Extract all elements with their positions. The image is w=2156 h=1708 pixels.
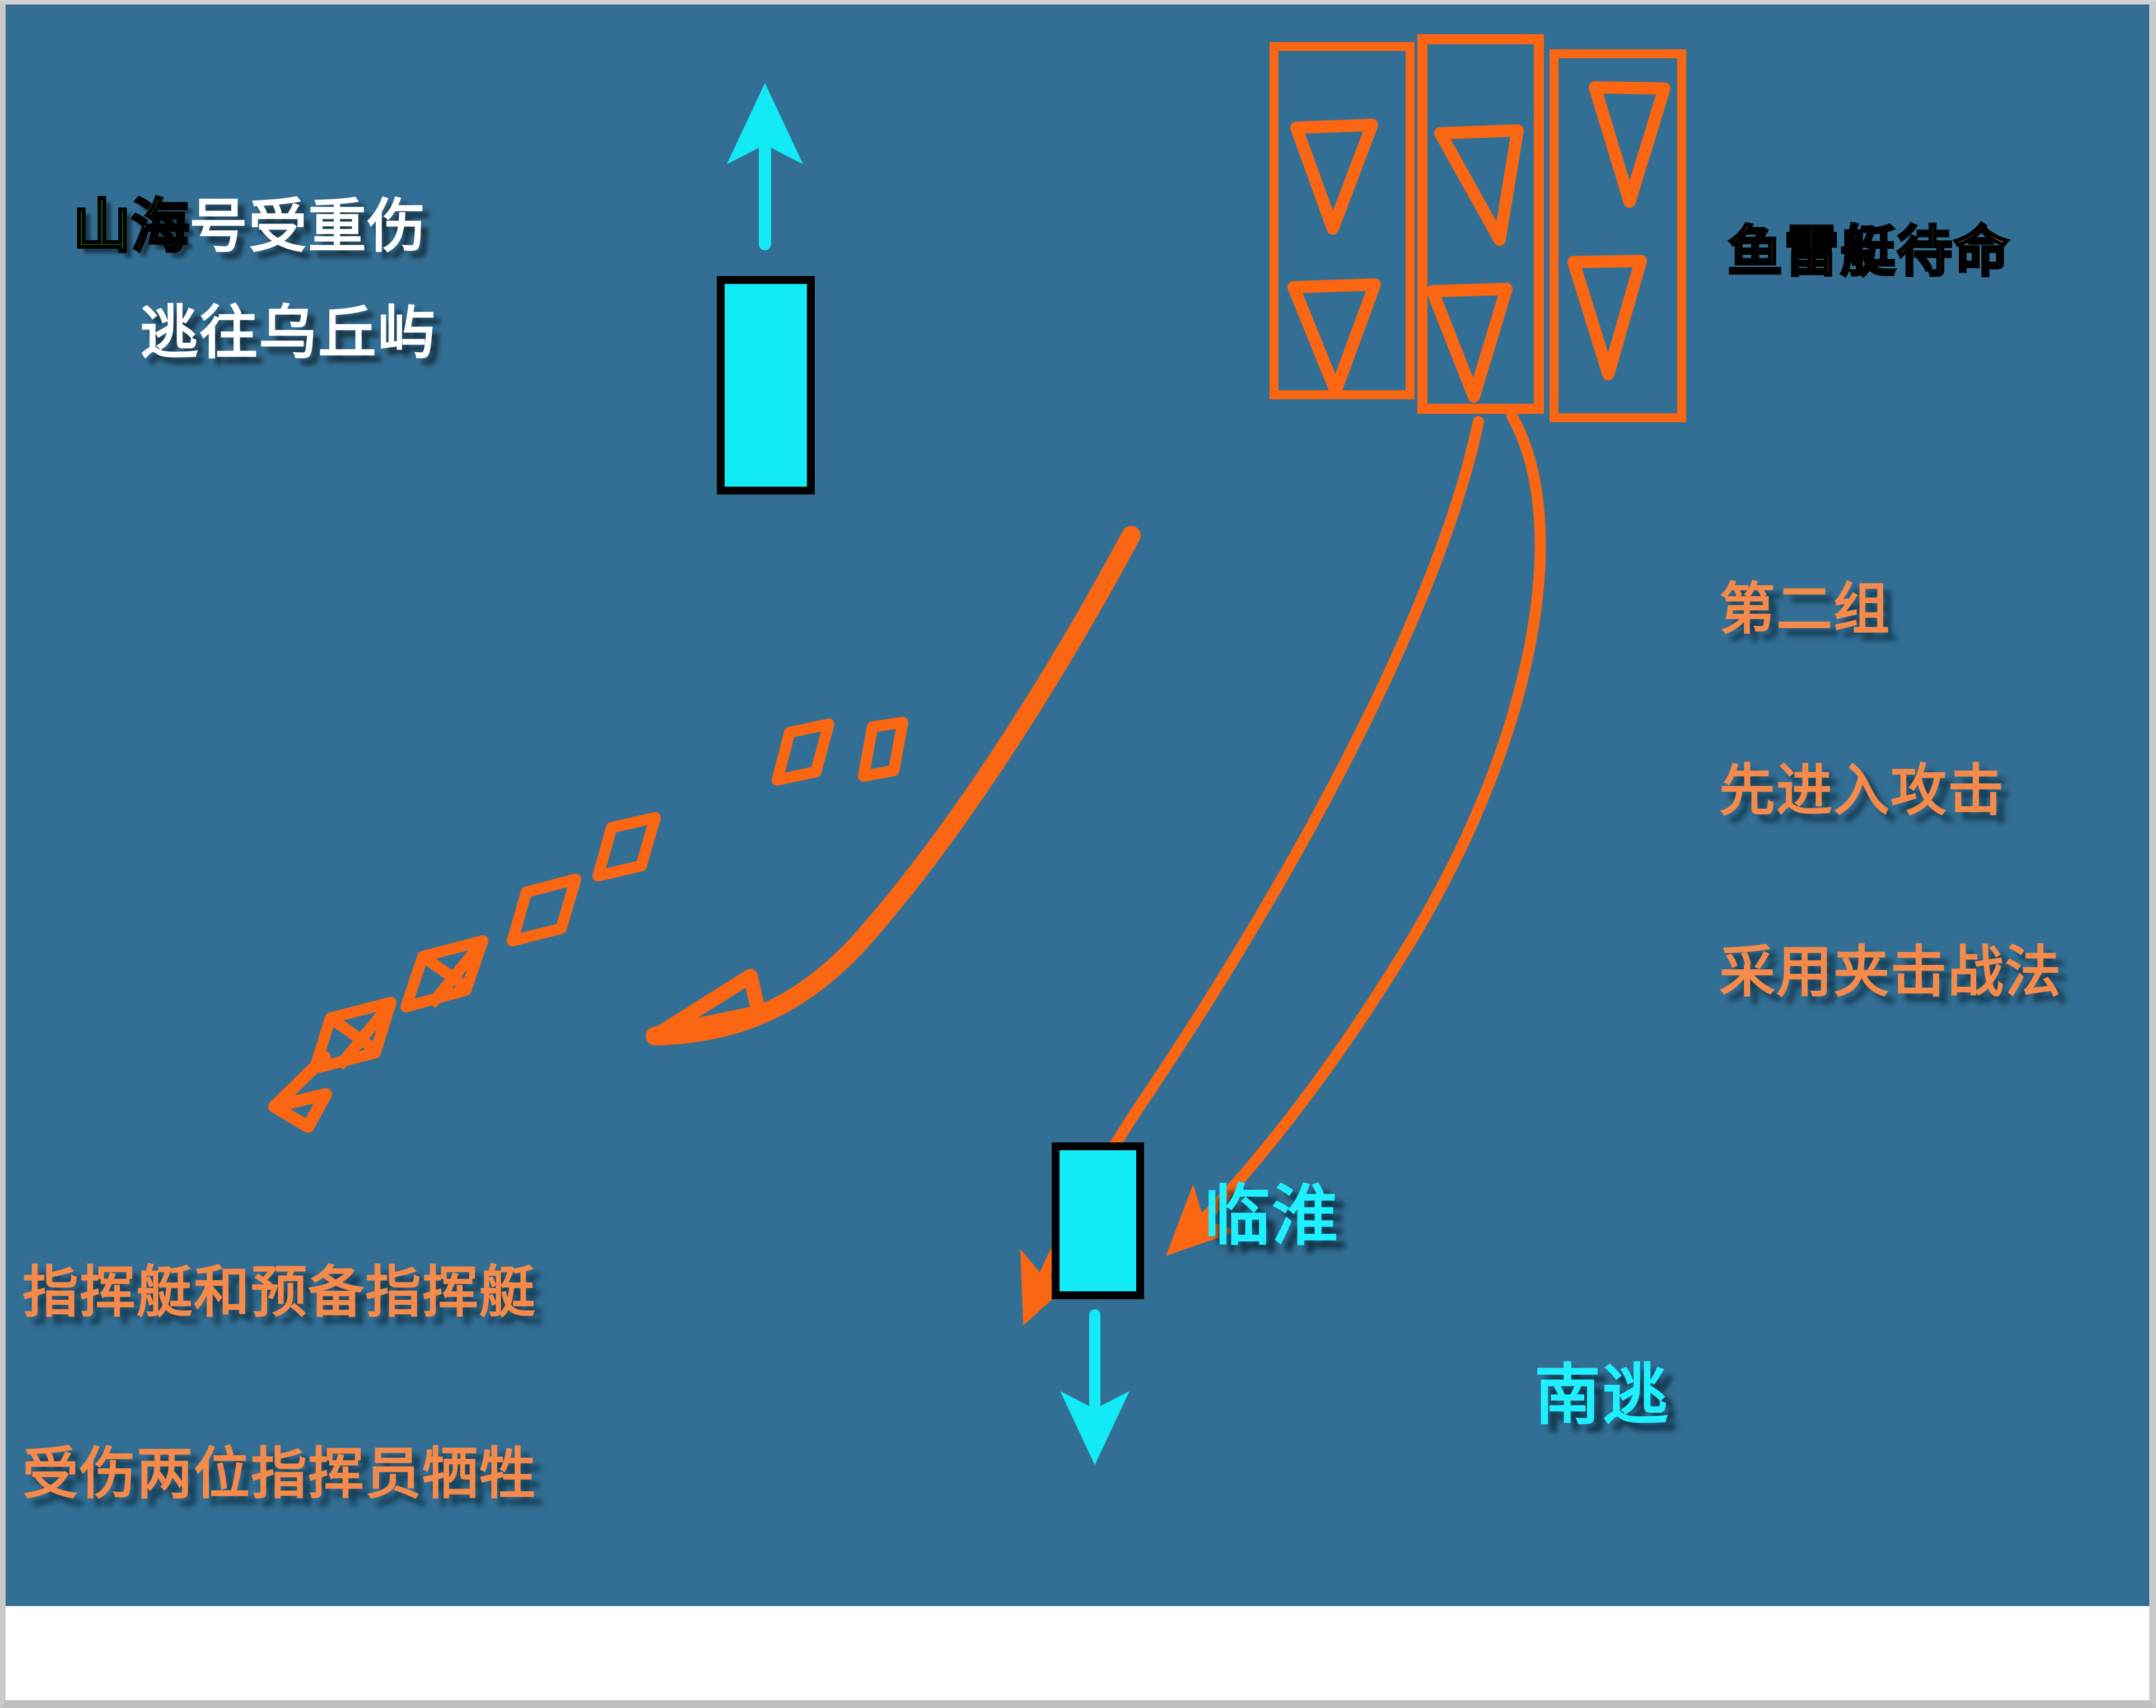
title-highlight-shanhai: 山海 [73,195,189,258]
label-flee-south: 南逃 [1534,1360,1670,1431]
label-group-two-line-2: 先进入攻击 [1719,760,2062,821]
label-group-two-line-3: 采用夹击战法 [1719,942,2062,1002]
label-group-two: 第二组 先进入攻击 采用夹击战法 [1719,458,2062,1123]
attack-curve-b [1192,416,1540,1231]
label-command-boat-line-1: 指挥艇和预备指挥艇 [22,1262,536,1323]
title-rest-damaged: 号受重伤 [189,195,427,258]
withdraw-arrowhead [655,976,759,1036]
title-line-1: 山海 号受重伤 [73,195,427,258]
withdraw-curve [655,535,1131,1036]
label-linhuai: 临淮 [1204,1180,1340,1252]
label-torpedo-standby: 鱼雷艇待命 [1728,223,2010,282]
label-group-two-line-1: 第二组 [1719,579,2062,640]
retreat-boat-marked-1 [406,941,483,1007]
title-line-2: 逃往乌丘屿 [140,301,437,364]
torpedo-group-3 [1554,54,1682,418]
label-command-boat-line-2: 受伤两位指挥员牺牲 [22,1444,536,1504]
torpedo-group-1 [1274,46,1410,395]
retreat-arrow-shaft [274,1057,325,1107]
slide-canvas: 山海 号受重伤 逃往乌丘屿 鱼雷艇待命 第二组 先进入攻击 采用夹击战法 指挥艇… [6,4,2149,1606]
retreat-boat-marked-2 [315,1002,391,1068]
slide-page: 山海 号受重伤 逃往乌丘屿 鱼雷艇待命 第二组 先进入攻击 采用夹击战法 指挥艇… [0,0,2156,1708]
torpedo-group-2 [1422,39,1539,409]
marker-shanhai-ship[interactable] [717,276,815,494]
retreat-arrowhead [274,1094,326,1127]
retreat-trail [6,4,903,1068]
marker-linhuai-ship[interactable] [1052,1142,1144,1299]
label-command-boat: 指挥艇和预备指挥艇 受伤两位指挥员牺牲 离开作战区域 [22,1141,536,1606]
